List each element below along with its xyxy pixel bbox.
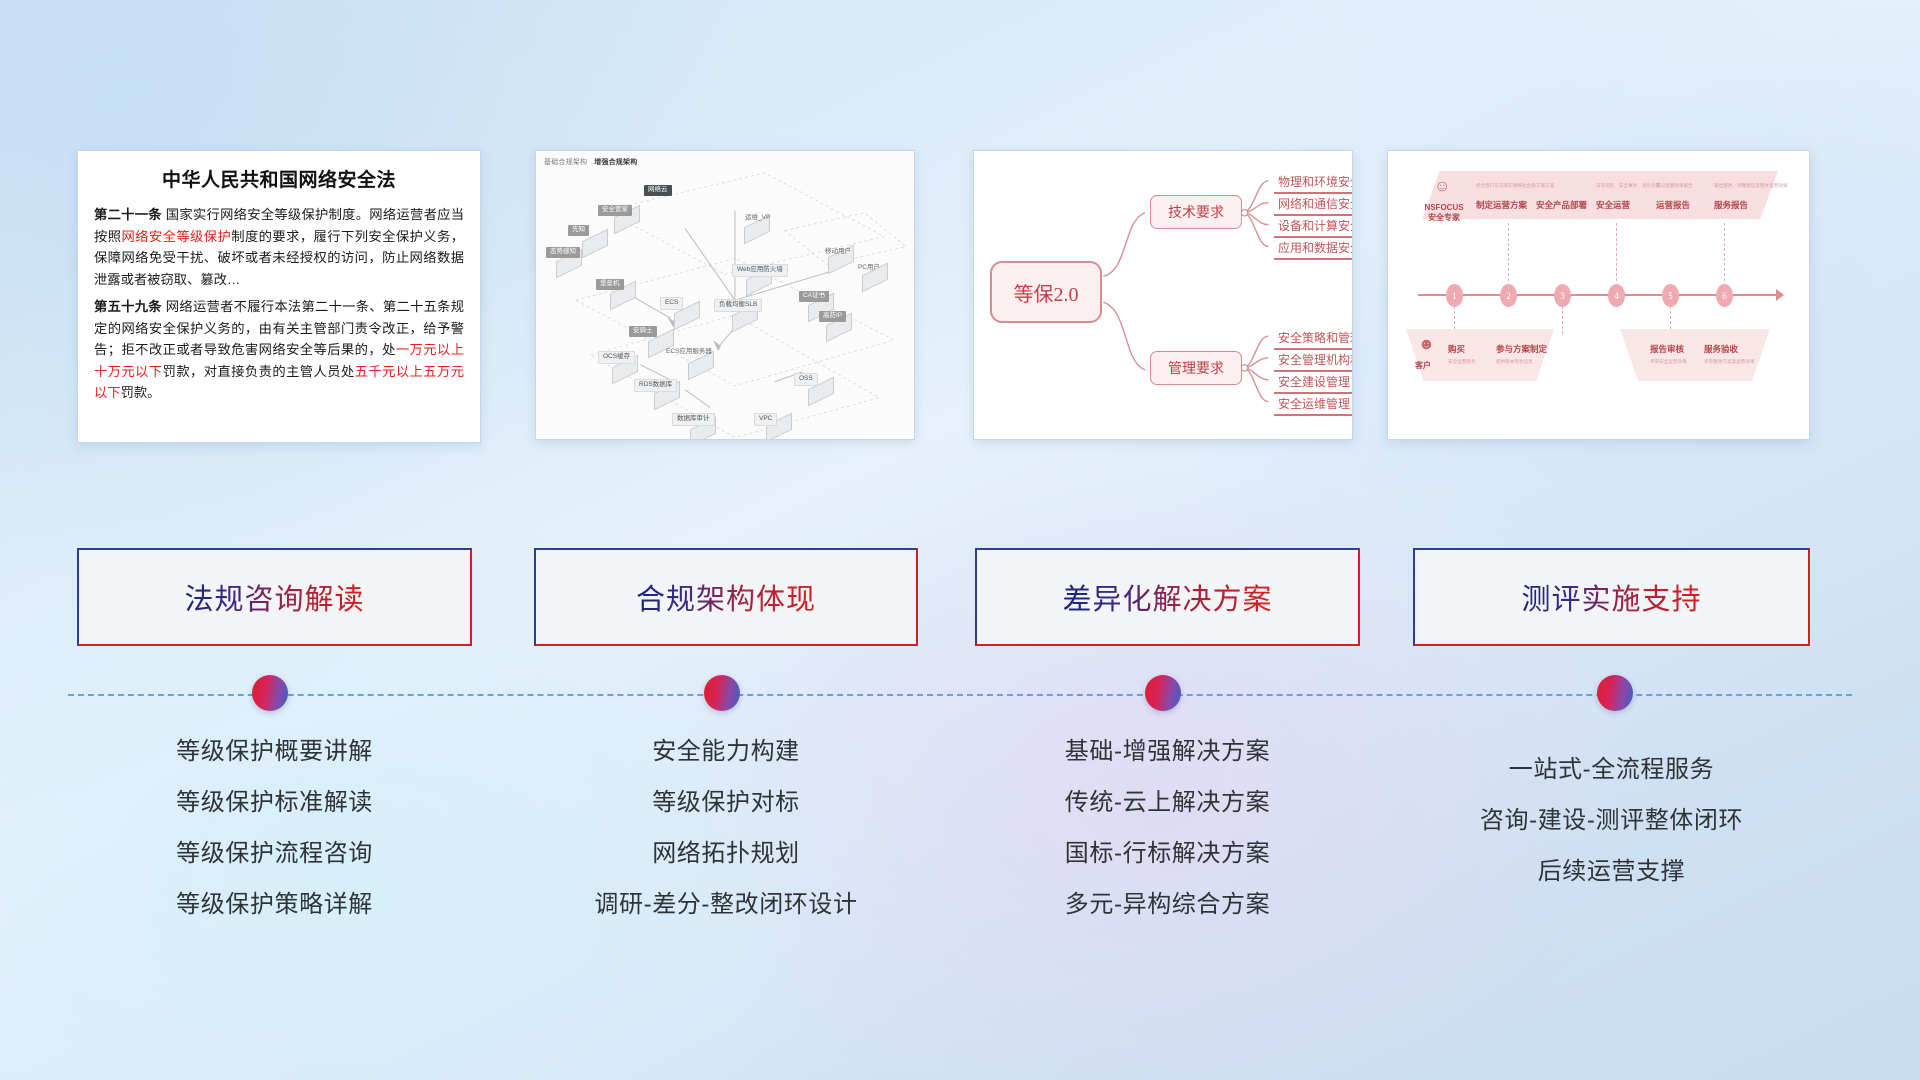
- list-item: 基础-增强解决方案: [975, 740, 1360, 764]
- timeline-bottom-right-main: 服务验收: [1704, 343, 1738, 355]
- timeline-top-step-sub: 输出整改／调整建议及整体运营效果: [1714, 183, 1788, 189]
- timeline-bottom-left-sub: 提供基本现状信息: [1496, 359, 1533, 365]
- list-item: 传统-云上解决方案: [975, 791, 1360, 815]
- architecture-node-label: 运维_VP: [741, 213, 774, 224]
- expert-person-icon: ☺: [1434, 179, 1450, 195]
- card-cybersecurity-law[interactable]: 中华人民共和国网络安全法 第二十一条 国家实行网络安全等级保护制度。网络运营者应…: [77, 150, 481, 443]
- list-item: 等级保护概要讲解: [77, 740, 472, 764]
- architecture-node-label: ECS应用服务器: [662, 347, 716, 358]
- bottom-list-3: 基础-增强解决方案传统-云上解决方案国标-行标解决方案多元-异构综合方案: [975, 740, 1360, 944]
- mindmap-leaf: 网络和通信安全: [1274, 195, 1353, 216]
- nsfocus-timeline-diagram: ☺ NSFOCUS安全专家 结合客户实况落实明细化合规制定运营方案实施方案安全产…: [1388, 151, 1809, 439]
- architecture-node-label: OSS: [794, 373, 818, 386]
- architecture-node-label: 先知: [568, 225, 589, 236]
- architecture-node-label: RDS数据库: [634, 379, 677, 392]
- headline-label-1: 法规咨询解读: [184, 576, 364, 618]
- timeline-bottom-band-right: [1620, 329, 1770, 381]
- mindmap-leaf: 应用和数据安全: [1274, 239, 1353, 260]
- timeline-top-step-sub: 阶段定期效果报告: [1656, 183, 1693, 189]
- list-item: 一站式-全流程服务: [1413, 758, 1810, 782]
- headline-boxes-row: 法规咨询解读 合规架构体现 差异化解决方案 测评实施支持: [0, 548, 1920, 658]
- timeline-top-band: [1422, 171, 1778, 219]
- headline-box-4[interactable]: 测评实施支持: [1413, 548, 1810, 646]
- mindmap-leaf: 安全策略和管理制度: [1274, 329, 1353, 350]
- list-item: 安全能力构建: [534, 740, 918, 764]
- law-body-text: 罚款，对直接负责的主管人员处: [163, 364, 355, 379]
- list-item: 网络拓扑规划: [534, 842, 918, 866]
- list-item: 等级保护对标: [534, 791, 918, 815]
- mindmap-branch-technical: 技术要求: [1150, 195, 1242, 229]
- architecture-node-label: 移动用户: [821, 247, 855, 258]
- timeline-dash: [1562, 306, 1563, 334]
- law-highlight-text: 网络安全等级保护: [121, 229, 231, 244]
- timeline-top-step-main: 服务报告: [1714, 199, 1748, 211]
- timeline-step-4[interactable]: 4: [1608, 284, 1625, 307]
- architecture-node-label: PC用户: [854, 263, 884, 274]
- timeline-top-step-main: 制定运营方案: [1476, 199, 1527, 211]
- bottom-list-1: 等级保护概要讲解等级保护标准解读等级保护流程咨询等级保护策略详解: [77, 740, 472, 944]
- timeline-dash: [1724, 223, 1725, 281]
- timeline-bottom-left-sub: 安全运营服务: [1448, 359, 1476, 365]
- architecture-node-label: 负载均衡SLB: [714, 299, 762, 312]
- list-item: 等级保护策略详解: [77, 893, 472, 917]
- timeline-step-3[interactable]: 3: [1554, 284, 1571, 307]
- bottom-list-2: 安全能力构建等级保护对标网络拓扑规划调研-差分-整改闭环设计: [534, 740, 918, 944]
- mindmap-root-node: 等保2.0: [990, 261, 1102, 323]
- card-mindmap-dengbao[interactable]: 等保2.0 技术要求 管理要求 物理和环境安全网络和通信安全设备和计算安全应用和…: [973, 150, 1353, 440]
- architecture-node-label: 网络云: [644, 185, 672, 196]
- timeline-top-step-main: 安全运营: [1596, 199, 1630, 211]
- architecture-node-label: ECS: [660, 297, 683, 310]
- list-item: 多元-异构综合方案: [975, 893, 1360, 917]
- mindmap-leaf: 设备和计算安全: [1274, 217, 1353, 238]
- law-card-body: 中华人民共和国网络安全法 第二十一条 国家实行网络安全等级保护制度。网络运营者应…: [78, 151, 480, 412]
- mindmap-leaf: 安全运维管理: [1274, 395, 1353, 416]
- timeline-top-step-sub: 结合客户实况落实明细化合规: [1476, 183, 1536, 189]
- card-cloud-architecture[interactable]: 基础合规架构增强合规架构: [535, 150, 915, 440]
- architecture-node-label: 态势感知: [546, 247, 580, 258]
- list-item: 等级保护标准解读: [77, 791, 472, 815]
- mindmap-branch-management: 管理要求: [1150, 351, 1242, 385]
- mindmap-leaf: 安全建设管理: [1274, 373, 1353, 394]
- law-paragraph: 第五十九条 网络运营者不履行本法第二十一条、第二十五条规定的网络安全保护义务的，…: [94, 296, 464, 404]
- architecture-node-label: 安骑士: [629, 326, 657, 337]
- timeline-bottom-left-main: 购买: [1448, 343, 1465, 355]
- architecture-node-label: VPC: [754, 413, 777, 426]
- timeline-top-step-main: 运营报告: [1656, 199, 1690, 211]
- mindmap-leaf: 安全管理机构和人员: [1274, 351, 1353, 372]
- timeline-top-step-sub: 日常巡检、安全事件、高危处置: [1596, 183, 1660, 189]
- timeline-bottom-right-sub: 评审安全运营效果: [1650, 359, 1687, 365]
- headline-box-3[interactable]: 差异化解决方案: [975, 548, 1360, 646]
- headline-label-4: 测评实施支持: [1521, 576, 1701, 618]
- architecture-node-label: 高防IP: [819, 311, 846, 322]
- headline-box-2[interactable]: 合规架构体现: [534, 548, 918, 646]
- axis-dot-2[interactable]: [704, 675, 740, 711]
- axis-dot-1[interactable]: [252, 675, 288, 711]
- preview-cards-row: 中华人民共和国网络安全法 第二十一条 国家实行网络安全等级保护制度。网络运营者应…: [0, 150, 1920, 450]
- law-body-text: 罚款。: [121, 385, 161, 400]
- timeline-dashed-axis: [68, 694, 1852, 696]
- architecture-node-label: 数据库审计: [672, 413, 715, 426]
- headline-label-3: 差异化解决方案: [1062, 576, 1272, 618]
- timeline-dash: [1508, 223, 1509, 281]
- nsfocus-brand-label: NSFOCUS安全专家: [1414, 203, 1474, 223]
- timeline-step-5[interactable]: 5: [1662, 284, 1679, 307]
- architecture-diagram: 基础合规架构增强合规架构: [536, 151, 914, 439]
- slide-canvas: 中华人民共和国网络安全法 第二十一条 国家实行网络安全等级保护制度。网络运营者应…: [0, 0, 1920, 1080]
- list-item: 调研-差分-整改闭环设计: [534, 893, 918, 917]
- headline-box-1[interactable]: 法规咨询解读: [77, 548, 472, 646]
- architecture-node-label: CA证书: [799, 291, 829, 302]
- timeline-step-6[interactable]: 6: [1716, 284, 1733, 307]
- architecture-node-label: OCS缓存: [598, 351, 635, 364]
- card-nsfocus-timeline[interactable]: ☺ NSFOCUS安全专家 结合客户实况落实明细化合规制定运营方案实施方案安全产…: [1387, 150, 1810, 440]
- architecture-node-label: 堡垒机: [596, 279, 624, 290]
- architecture-lines-svg: [536, 151, 914, 439]
- architecture-node-label: 安全管家: [598, 205, 632, 216]
- axis-dot-4[interactable]: [1597, 675, 1633, 711]
- mindmap-diagram: 等保2.0 技术要求 管理要求 物理和环境安全网络和通信安全设备和计算安全应用和…: [974, 151, 1352, 439]
- timeline-bottom-right-main: 报告审核: [1650, 343, 1684, 355]
- timeline-step-2[interactable]: 2: [1500, 284, 1517, 307]
- timeline-bottom-right-sub: 评审整改方案及运营效果: [1704, 359, 1755, 365]
- law-title: 中华人民共和国网络安全法: [94, 165, 464, 192]
- headline-label-2: 合规架构体现: [636, 576, 816, 618]
- bottom-list-4: 一站式-全流程服务咨询-建设-测评整体闭环后续运营支撑: [1413, 758, 1810, 911]
- law-article-number: 第二十一条: [94, 207, 162, 222]
- list-item: 国标-行标解决方案: [975, 842, 1360, 866]
- timeline-bottom-left-main: 参与方案制定: [1496, 343, 1547, 355]
- list-item: 等级保护流程咨询: [77, 842, 472, 866]
- customer-label: 客户: [1408, 361, 1438, 371]
- law-paragraphs: 第二十一条 国家实行网络安全等级保护制度。网络运营者应当按照网络安全等级保护制度…: [94, 204, 464, 404]
- timeline-top-step-sub: 实施方案: [1536, 183, 1554, 189]
- axis-dot-3[interactable]: [1145, 675, 1181, 711]
- timeline-step-1[interactable]: 1: [1446, 284, 1463, 307]
- law-article-number: 第五十九条: [94, 299, 162, 314]
- timeline-axis-arrow: [1776, 289, 1784, 301]
- law-paragraph: 第二十一条 国家实行网络安全等级保护制度。网络运营者应当按照网络安全等级保护制度…: [94, 204, 464, 290]
- timeline-dash: [1616, 223, 1617, 281]
- timeline-top-step-main: 安全产品部署: [1536, 199, 1587, 211]
- list-item: 后续运营支撑: [1413, 860, 1810, 884]
- mindmap-leaf: 物理和环境安全: [1274, 173, 1353, 194]
- customer-person-icon: ☻: [1418, 337, 1435, 353]
- architecture-node-label: Web应用防火墙: [732, 264, 788, 277]
- list-item: 咨询-建设-测评整体闭环: [1413, 809, 1810, 833]
